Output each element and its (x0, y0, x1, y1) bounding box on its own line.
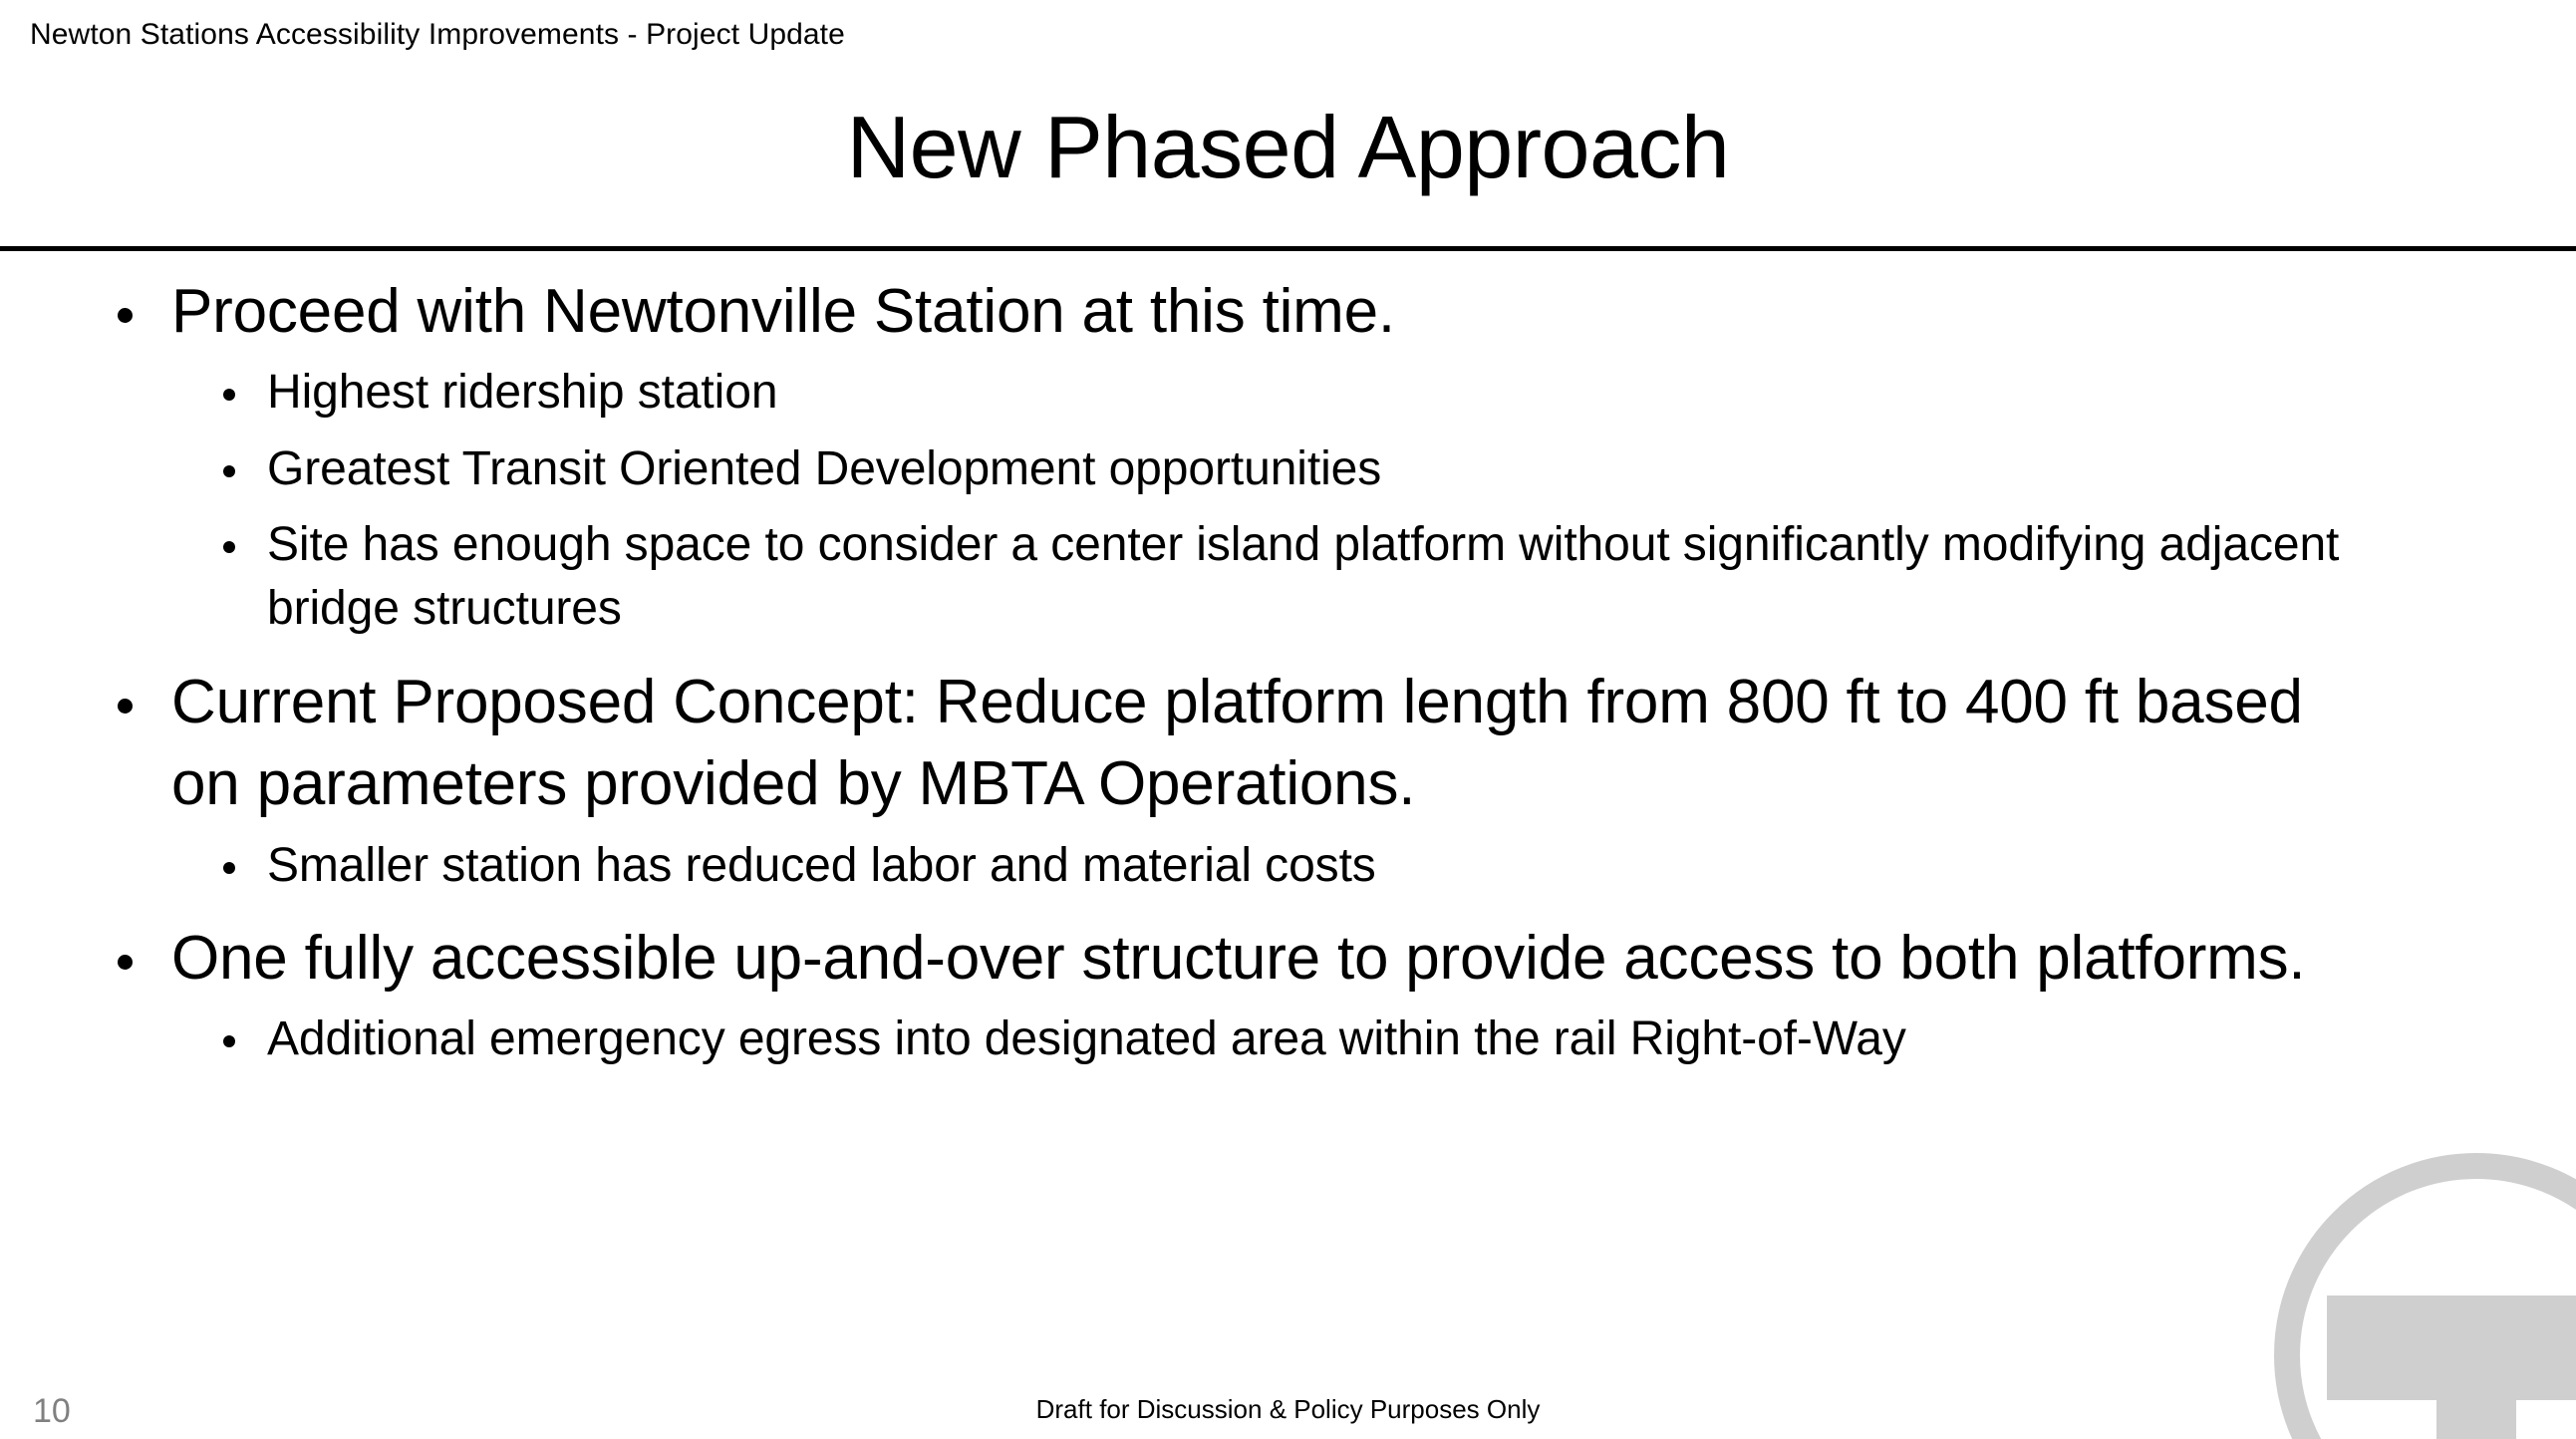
spacer (0, 642, 2576, 662)
slide-header-label: Newton Stations Accessibility Improvemen… (30, 18, 845, 52)
bullet-dot-icon (118, 955, 133, 970)
spacer (0, 898, 2576, 918)
bullet-level2: Highest ridership station (0, 361, 2576, 425)
bullet-dot-icon (223, 389, 235, 401)
bullet-dot-icon (118, 699, 133, 714)
bullet-text: Additional emergency egress into designa… (267, 1007, 2417, 1071)
bullet-text: Greatest Transit Oriented Development op… (267, 437, 2417, 501)
slide-canvas: Newton Stations Accessibility Improvemen… (0, 0, 2576, 1439)
spacer (0, 426, 2576, 437)
bullet-text: Smaller station has reduced labor and ma… (267, 834, 2417, 898)
bullet-dot-icon (223, 465, 235, 477)
bullet-level2: Greatest Transit Oriented Development op… (0, 437, 2576, 501)
title-divider-rule (0, 246, 2576, 251)
bullet-level2: Smaller station has reduced labor and ma… (0, 834, 2576, 898)
bullet-level1: One fully accessible up-and-over structu… (0, 918, 2576, 1000)
bullet-dot-icon (223, 862, 235, 874)
bullet-level1: Proceed with Newtonville Station at this… (0, 271, 2576, 353)
spacer (0, 353, 2576, 361)
spacer (0, 501, 2576, 513)
bullet-text: Proceed with Newtonville Station at this… (171, 271, 2387, 353)
page-title: New Phased Approach (0, 100, 2576, 194)
bullet-text: Highest ridership station (267, 361, 2417, 425)
bullet-dot-icon (118, 308, 133, 323)
bullet-text: Current Proposed Concept: Reduce platfor… (171, 662, 2387, 826)
bullet-level2: Additional emergency egress into designa… (0, 1007, 2576, 1071)
bullet-level1: Current Proposed Concept: Reduce platfor… (0, 662, 2576, 826)
bullet-dot-icon (223, 1035, 235, 1047)
spacer (0, 826, 2576, 834)
bullet-text: One fully accessible up-and-over structu… (171, 918, 2387, 1000)
bullet-text: Site has enough space to consider a cent… (267, 513, 2417, 642)
footer-disclaimer: Draft for Discussion & Policy Purposes O… (0, 1394, 2576, 1425)
spacer (0, 1000, 2576, 1007)
slide-body: Proceed with Newtonville Station at this… (0, 271, 2576, 1072)
bullet-dot-icon (223, 541, 235, 553)
bullet-level2: Site has enough space to consider a cent… (0, 513, 2576, 642)
